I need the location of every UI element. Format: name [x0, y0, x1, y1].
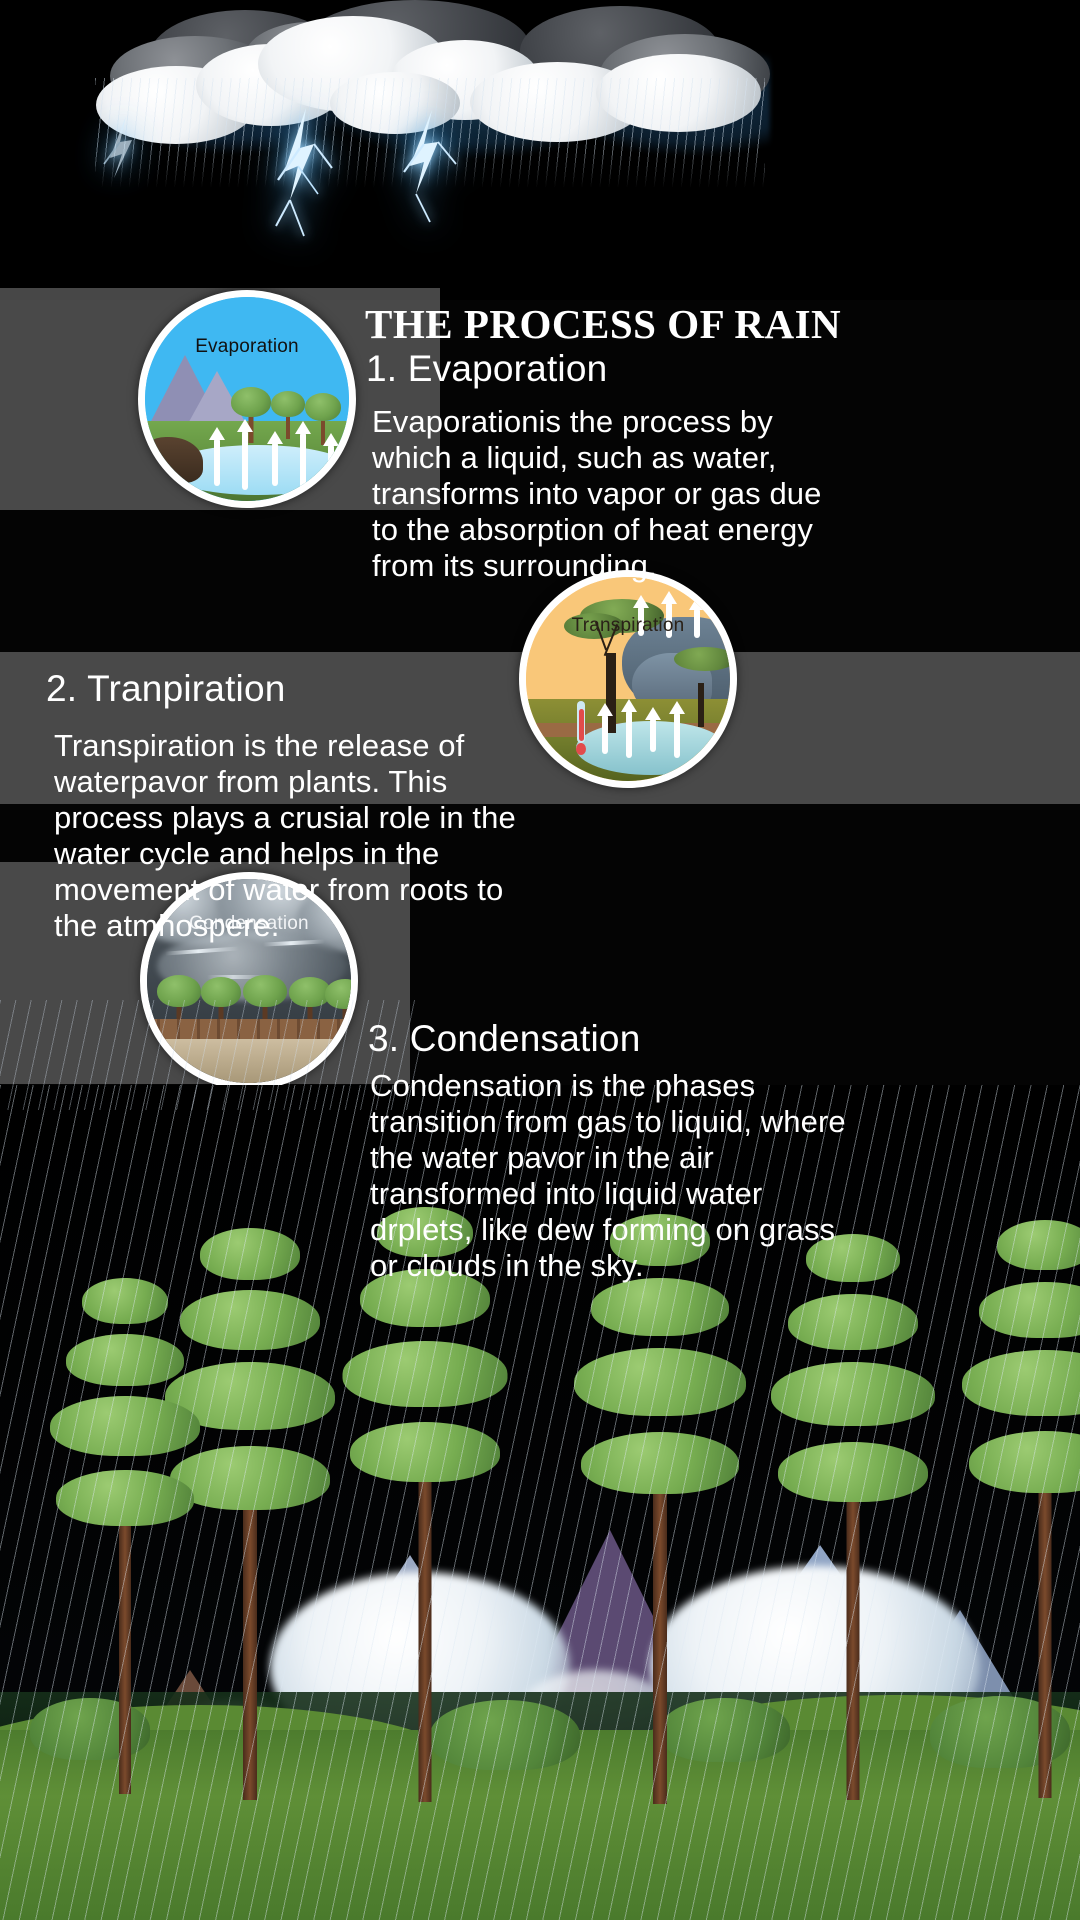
lightning-bolt-icon: [390, 110, 470, 230]
tree: [201, 973, 241, 1023]
evaporation-illustration: Evaporation: [138, 290, 356, 508]
infographic-poster: THE PROCESS OF RAIN Evaporation: [0, 0, 1080, 1920]
transpiration-arrow: [622, 699, 636, 759]
step-body-condensation: Condensation is the phases transition fr…: [370, 1068, 870, 1284]
evaporation-arrow: [267, 431, 283, 487]
tree: [157, 971, 201, 1025]
step-body-evaporation: Evaporationis the process by which a liq…: [372, 404, 842, 584]
thermometer-icon: [576, 701, 586, 755]
evaporation-circle-label: Evaporation: [145, 336, 349, 358]
ground-path: [140, 1039, 358, 1083]
transpiration-illustration: Transpiration: [519, 570, 737, 788]
step-heading-condensation: 3. Condensation: [368, 1018, 640, 1060]
lightning-bolt-icon: [96, 116, 156, 196]
evaporation-arrow: [295, 421, 311, 491]
storm-banner-illustration: [0, 0, 1080, 300]
pine-tree: [40, 1254, 210, 1794]
transpiration-arrow: [670, 701, 684, 759]
transpiration-arrow: [598, 703, 612, 755]
tree: [243, 971, 287, 1025]
step-heading-transpiration: 2. Tranpiration: [46, 668, 286, 710]
step-heading-evaporation: 1. Evaporation: [366, 348, 607, 390]
transpiration-arrow: [646, 707, 660, 753]
transpiration-circle-label: Transpiration: [526, 615, 730, 637]
pine-tree: [950, 1178, 1080, 1798]
page-title: THE PROCESS OF RAIN: [365, 300, 841, 348]
lightning-bolt-icon: [260, 108, 350, 248]
evaporation-arrow: [237, 419, 253, 491]
evaporation-arrow: [323, 433, 339, 485]
pine-tree: [760, 1200, 945, 1800]
step-body-transpiration: Transpiration is the release of waterpav…: [54, 728, 524, 944]
evaporation-arrow: [209, 427, 225, 487]
